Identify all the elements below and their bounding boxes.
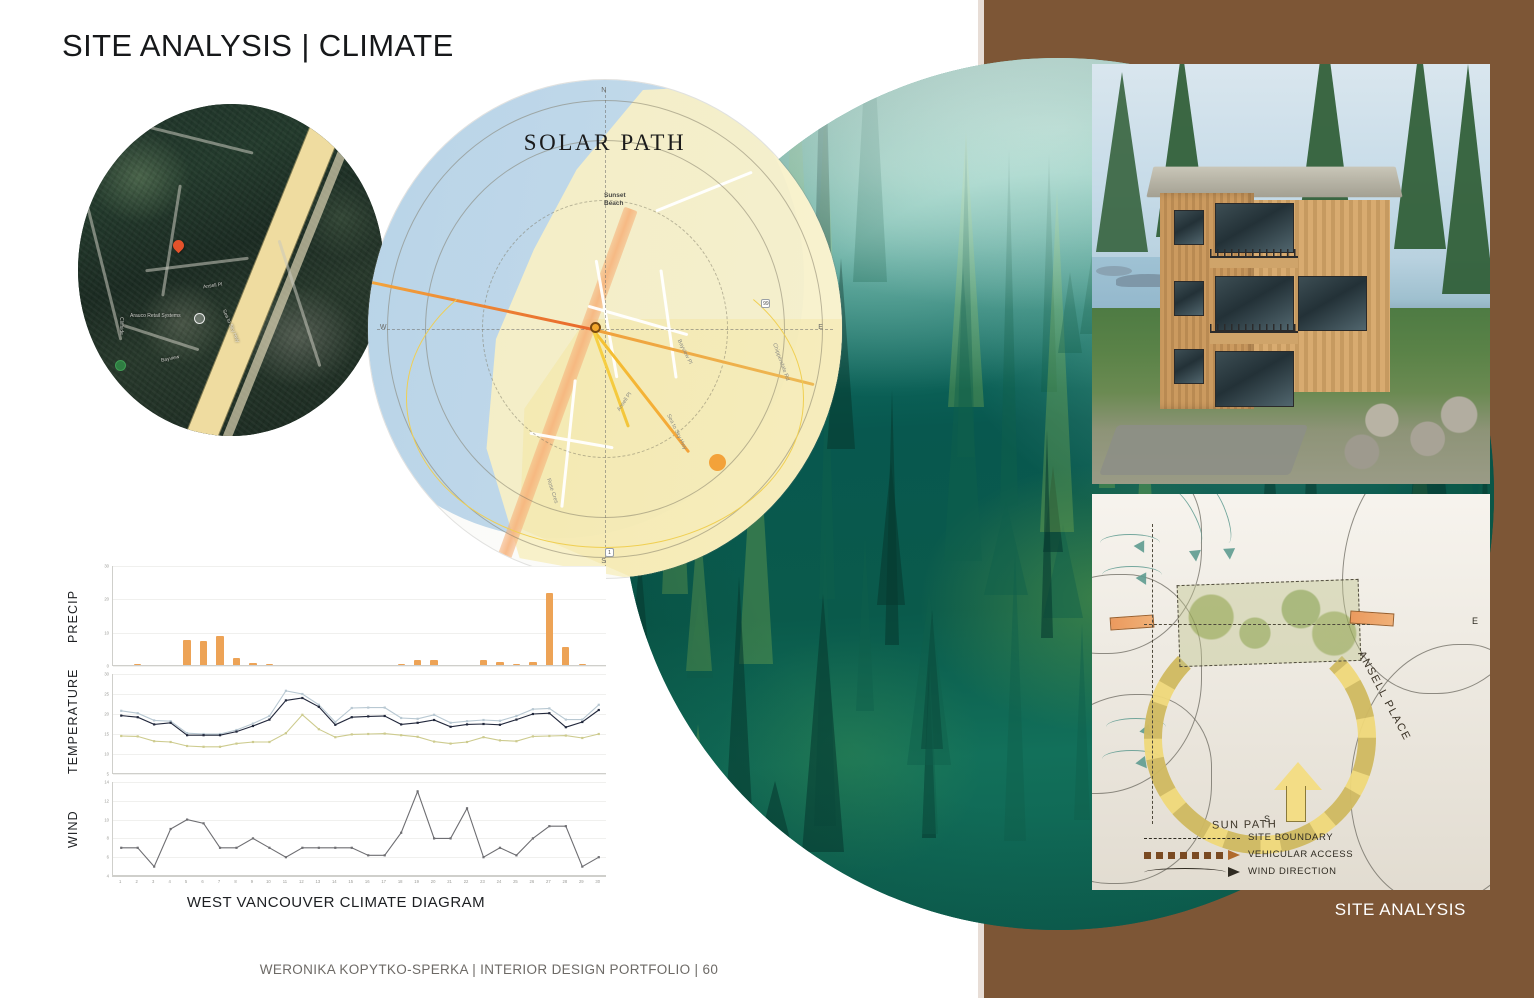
series-marker [235,847,237,849]
series-marker [170,722,172,724]
series-marker [565,719,567,721]
y-axis-tick: 10 [104,817,109,822]
series-marker [202,822,204,824]
series-marker [120,735,122,737]
series-marker [153,723,155,725]
x-axis-tick: 4 [168,879,170,884]
x-axis-tick: 28 [562,879,567,884]
y-axis-tick: 4 [107,874,109,879]
series-marker [400,734,402,736]
site-plan-sketch: SUN PATH E S ANSELL PLACE SITE BOUNDARY … [1092,494,1490,890]
series-marker [565,726,567,728]
aerial-map-circle: Ansell Pl Arauco Retail Systems Cliffsid… [78,104,384,436]
x-axis-tick: 9 [251,879,253,884]
series-marker [499,739,501,741]
x-axis-tick: 23 [480,879,485,884]
series-marker [351,716,353,718]
x-axis-tick: 7 [218,879,220,884]
series-group-temperature [113,674,607,774]
x-axis: 1234567891011121314151617181920212223242… [112,876,606,890]
series-marker [252,723,254,725]
series-marker [466,720,468,722]
highway-shield-icon: 1 [605,548,614,557]
wind-arrow-head-icon [1189,550,1202,562]
house-window [1174,281,1204,316]
y-axis-tick: 30 [104,564,109,569]
y-axis-tick: 25 [104,692,109,697]
series-marker [334,736,336,738]
series-marker [170,828,172,830]
x-axis-tick: 25 [513,879,518,884]
series-marker [252,837,254,839]
x-axis-tick: 12 [299,879,304,884]
series-marker [318,706,320,708]
solar-center-point [590,322,601,333]
series-marker [565,735,567,737]
precip-bar [430,660,437,665]
house-window [1174,210,1204,245]
gridline [113,666,606,667]
precip-bar [562,647,569,665]
series-marker [186,819,188,821]
series-line [121,698,599,735]
vehicular-access-key-icon [1144,849,1240,861]
x-axis-tick: 17 [381,879,386,884]
series-marker [565,825,567,827]
series-marker [301,847,303,849]
series-marker [433,719,435,721]
series-marker [367,715,369,717]
y-axis-tick: 20 [104,597,109,602]
series-marker [235,743,237,745]
precip-bar [398,664,405,665]
precip-bar [496,662,503,665]
series-marker [499,724,501,726]
axis-title-wind: WIND [66,782,80,876]
solar-path-diagram: SOLAR PATH Sunset Beach N E S W Bayview … [368,80,842,578]
series-marker [515,740,517,742]
aerial-label: Cliffside [118,317,124,335]
series-marker [598,709,600,711]
x-axis-tick: 8 [234,879,236,884]
x-axis-tick: 6 [201,879,203,884]
series-marker [137,847,139,849]
precip-bar [480,660,487,665]
series-line [121,691,599,734]
series-marker [417,722,419,724]
series-marker [417,718,419,720]
series-marker [202,746,204,748]
x-axis-tick: 22 [464,879,469,884]
compass-north-label: N [601,87,606,94]
series-marker [219,746,221,748]
series-marker [515,854,517,856]
series-marker [186,745,188,747]
series-marker [252,725,254,727]
site-building-footprint [1177,579,1362,667]
series-marker [482,723,484,725]
series-marker [598,856,600,858]
series-marker [301,693,303,695]
series-marker [367,854,369,856]
series-marker [433,741,435,743]
panel-precip: 0102030 [112,566,606,666]
precip-bar [529,662,536,665]
page-title: SITE ANALYSIS | CLIMATE [62,28,454,64]
series-marker [466,807,468,809]
series-marker [482,856,484,858]
house-balcony [1210,331,1298,344]
precip-bar [134,664,141,665]
house-window-large [1215,276,1293,331]
series-marker [334,724,336,726]
building-photo [1092,64,1490,484]
series-marker [318,847,320,849]
series-marker [433,837,435,839]
series-marker [235,731,237,733]
series-marker [301,697,303,699]
series-marker [482,736,484,738]
site-boundary-key-icon [1144,832,1240,844]
series-marker [170,741,172,743]
series-marker [499,720,501,722]
precip-bar [183,640,190,665]
series-line [121,715,599,747]
series-marker [186,734,188,736]
precip-bar [216,636,223,665]
series-marker [285,856,287,858]
y-axis-tick: 0 [107,664,109,669]
series-marker [153,866,155,868]
house-balcony [1210,256,1298,269]
x-axis-tick: 24 [497,879,502,884]
series-marker [318,704,320,706]
legend-label: VEHICULAR ACCESS [1248,846,1353,863]
precip-bar [513,664,520,665]
photo-walkway [1099,425,1308,475]
series-marker [532,708,534,710]
wind-arrow-head-icon [1223,548,1236,560]
series-marker [581,737,583,739]
y-axis-tick: 20 [104,712,109,717]
series-marker [400,832,402,834]
compass-south-label: S [1264,814,1270,824]
x-axis-tick: 11 [283,879,287,884]
compass-east-label: E [1472,616,1478,626]
series-marker [482,719,484,721]
y-axis-tick: 15 [104,732,109,737]
x-axis-tick: 27 [546,879,551,884]
x-axis-tick: 5 [185,879,187,884]
precip-bar [249,663,256,665]
series-marker [137,716,139,718]
series-marker [252,741,254,743]
precip-bar [266,664,273,665]
photo-conifer [1442,64,1490,294]
series-marker [120,715,122,717]
series-marker [598,733,600,735]
legend-label: WIND DIRECTION [1248,863,1337,880]
house-window-large [1298,276,1367,331]
y-axis-tick: 12 [104,798,109,803]
legend-label: SITE BOUNDARY [1248,829,1333,846]
aerial-label: Arauco Retail Systems [130,313,181,319]
series-marker [384,715,386,717]
series-line [121,791,599,866]
gridline [113,566,606,567]
x-axis-tick: 29 [579,879,584,884]
solar-path-curve [406,249,804,548]
series-marker [268,719,270,721]
x-axis-tick: 13 [315,879,320,884]
series-marker [598,704,600,706]
site-boundary-line [1144,624,1370,625]
series-marker [285,732,287,734]
series-marker [548,735,550,737]
series-marker [367,733,369,735]
x-axis-tick: 21 [447,879,452,884]
series-marker [219,734,221,736]
precip-bar [579,664,586,665]
y-axis-tick: 30 [104,672,109,677]
house-window [1174,349,1204,384]
solar-path-title: SOLAR PATH [368,130,842,156]
sun-direction-arrow-stem [1286,786,1306,822]
x-axis-tick: 15 [348,879,353,884]
series-marker [548,825,550,827]
series-marker [417,736,419,738]
series-marker [449,837,451,839]
compass-south-label: S [601,558,606,565]
highway-shield-icon: 99 [761,299,770,308]
x-axis-tick: 18 [398,879,403,884]
axis-title-precip: PRECIP [66,566,80,666]
chart-caption: WEST VANCOUVER CLIMATE DIAGRAM [66,894,606,911]
photo-island [1096,266,1132,276]
sun-position-dot [709,454,726,471]
x-axis-tick: 26 [530,879,535,884]
wind-arrow [1100,534,1160,552]
series-marker [285,690,287,692]
legend-row-site-boundary: SITE BOUNDARY [1144,829,1353,846]
series-marker [449,722,451,724]
series-marker [137,712,139,714]
series-marker [384,707,386,709]
series-marker [351,733,353,735]
series-marker [515,715,517,717]
series-marker [219,847,221,849]
series-marker [548,707,550,709]
map-poi-green-icon [115,360,126,371]
series-marker [384,854,386,856]
precip-bar [233,658,240,665]
x-axis-tick: 14 [332,879,337,884]
series-marker [334,847,336,849]
series-marker [400,723,402,725]
series-marker [334,721,336,723]
y-axis-tick: 6 [107,855,109,860]
series-marker [285,699,287,701]
legend-row-vehicular-access: VEHICULAR ACCESS [1144,846,1353,863]
photo-conifer [1394,64,1446,249]
series-marker [367,707,369,709]
series-marker [268,847,270,849]
series-group-wind [113,782,607,876]
series-marker [120,710,122,712]
axis-title-temperature: TEMPERATURE [66,674,80,774]
y-axis-tick: 8 [107,836,109,841]
house-window-large [1215,351,1293,406]
gridline [113,633,606,634]
series-marker [153,719,155,721]
y-axis-tick: 14 [104,780,109,785]
precip-bar [414,660,421,665]
gridline [113,774,606,775]
panel-wind: 468101214 [112,782,606,876]
series-marker [581,866,583,868]
series-marker [532,713,534,715]
house-massing [1160,165,1391,417]
series-marker [120,847,122,849]
panel-temperature: 51015202530 [112,674,606,774]
series-marker [400,717,402,719]
x-axis-tick: 16 [365,879,370,884]
series-marker [318,728,320,730]
series-marker [202,734,204,736]
x-axis-tick: 1 [119,879,121,884]
house-window-large [1215,203,1293,253]
series-marker [384,733,386,735]
precip-bar [200,641,207,665]
compass-west-label: W [380,324,387,331]
series-marker [433,714,435,716]
series-marker [417,790,419,792]
series-marker [153,740,155,742]
series-marker [532,735,534,737]
wind-direction-key-icon [1144,866,1240,878]
series-marker [515,719,517,721]
precip-bar [546,593,553,665]
x-axis-tick: 19 [414,879,419,884]
gridline [113,599,606,600]
series-marker [466,723,468,725]
portfolio-page: SITE ANALYSIS SITE ANALYSIS | CLIMATE An… [0,0,1534,998]
series-marker [351,707,353,709]
legend-row-wind-direction: WIND DIRECTION [1144,863,1353,880]
series-marker [137,735,139,737]
series-marker [449,726,451,728]
y-axis-tick: 5 [107,772,109,777]
series-marker [449,743,451,745]
series-marker [268,715,270,717]
series-marker [581,719,583,721]
series-marker [301,714,303,716]
series-marker [268,741,270,743]
y-axis-tick: 10 [104,752,109,757]
x-axis-tick: 10 [266,879,271,884]
site-plan-legend: SITE BOUNDARY VEHICULAR ACCESS WIND DIRE… [1144,829,1353,880]
series-marker [532,837,534,839]
series-marker [499,847,501,849]
x-axis-tick: 3 [152,879,154,884]
x-axis-tick: 20 [431,879,436,884]
x-axis-tick: 2 [136,879,138,884]
series-marker [351,847,353,849]
climate-diagram: PRECIP0102030TEMPERATURE51015202530WIND4… [66,566,606,926]
sunset-beach-label: Sunset Beach [604,192,644,208]
compass-east-label: E [818,324,823,331]
page-footer: WERONIKA KOPYTKO-SPERKA | INTERIOR DESIG… [0,962,978,977]
photo-conifer [1096,72,1148,252]
series-marker [548,712,550,714]
series-marker [581,721,583,723]
x-axis-tick: 30 [595,879,600,884]
series-marker [466,741,468,743]
site-boundary-line [1152,524,1156,824]
y-axis-tick: 10 [104,630,109,635]
